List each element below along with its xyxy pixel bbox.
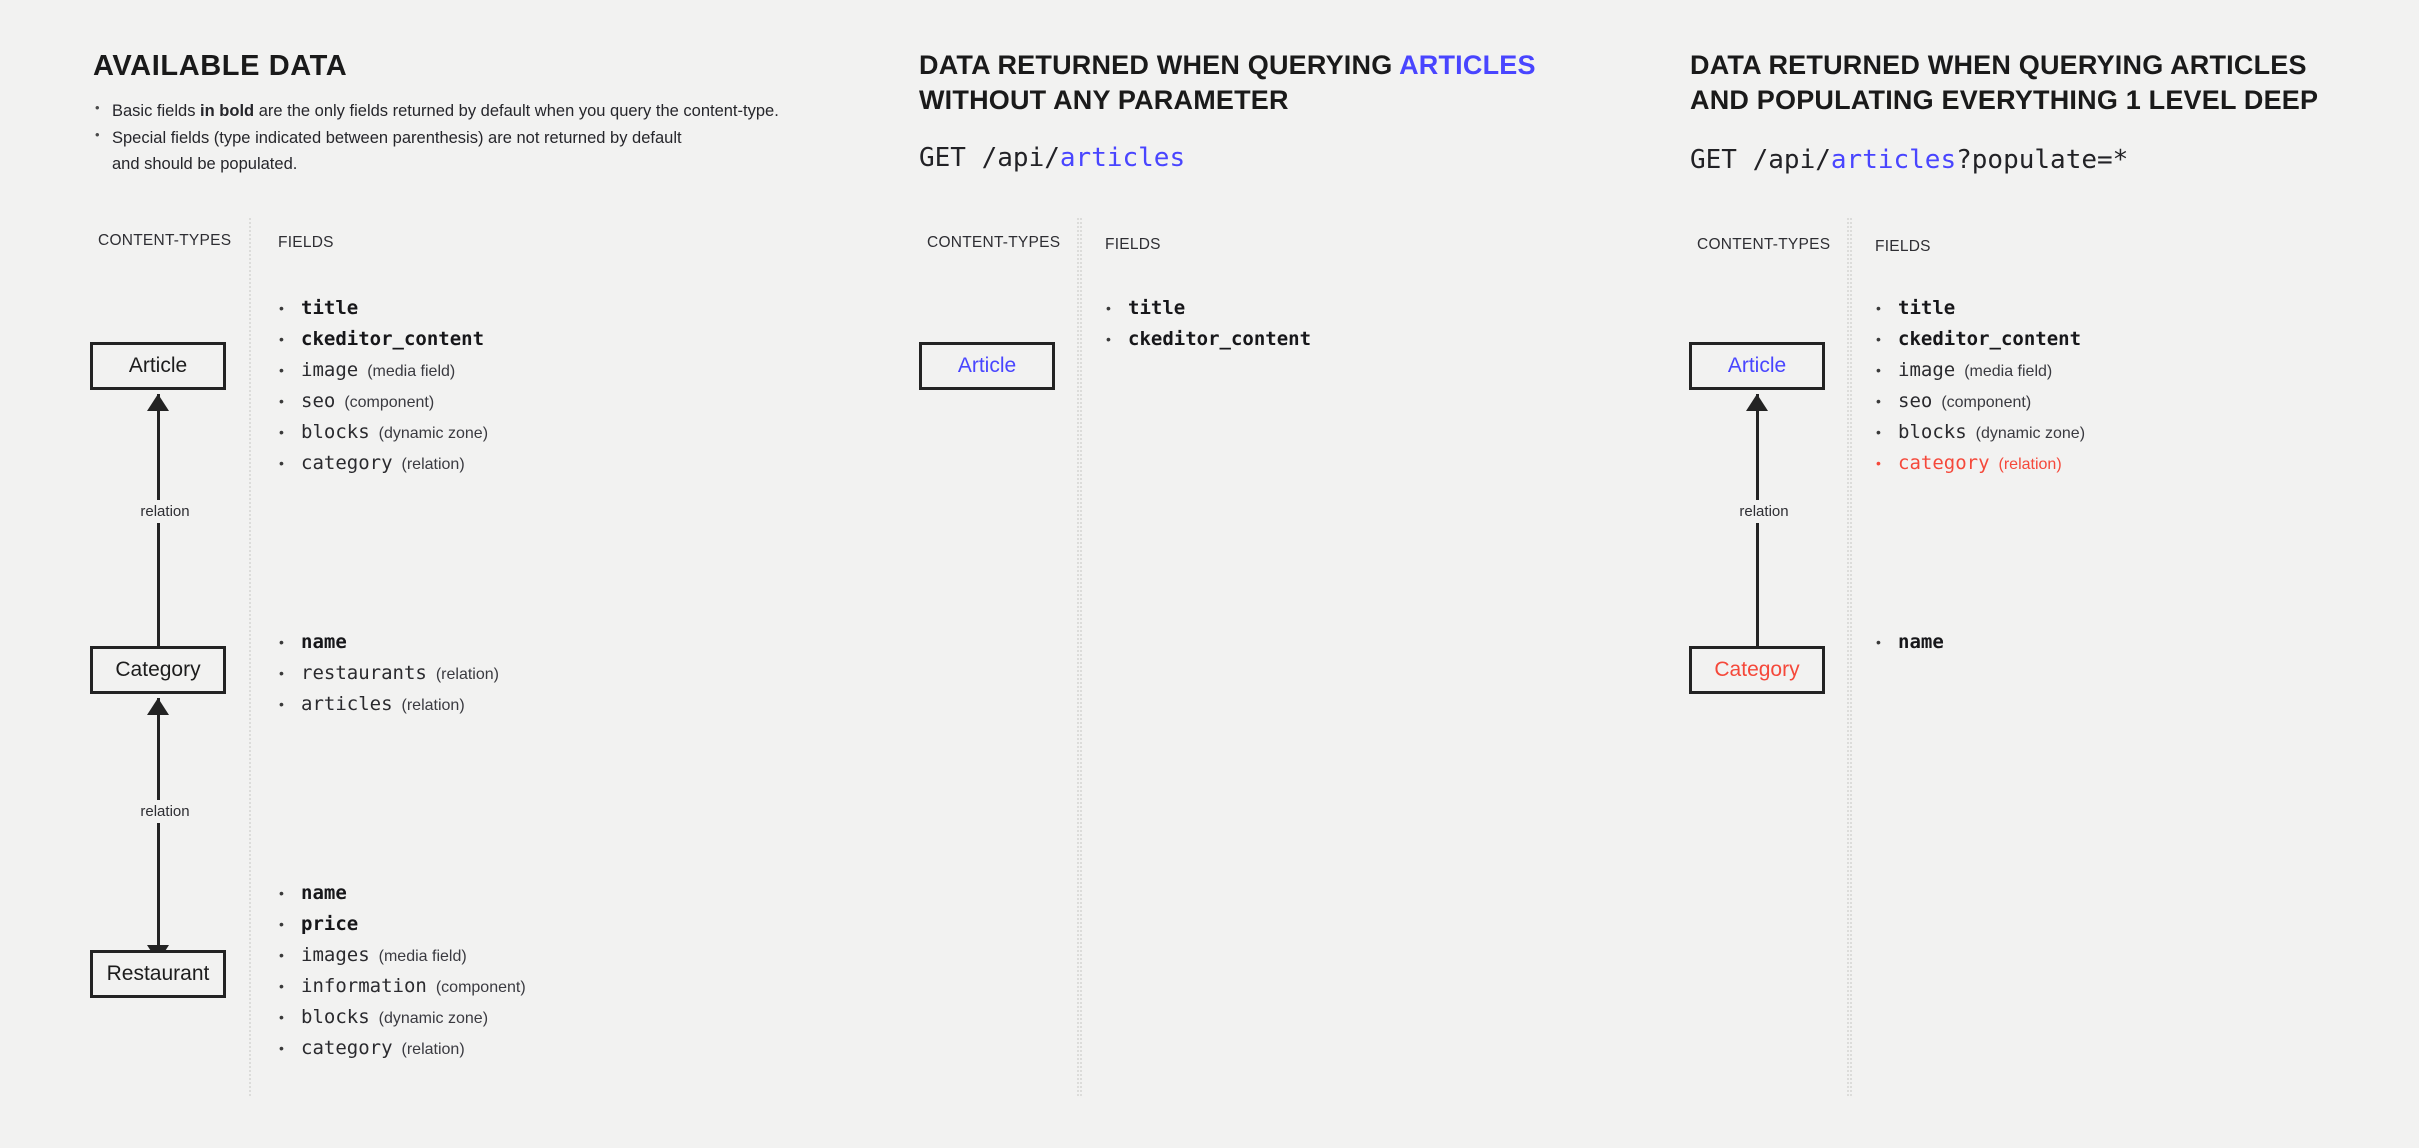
field-name: category xyxy=(1898,452,1990,474)
field-item: information(component) xyxy=(277,971,526,1002)
field-item: title xyxy=(1874,293,2085,324)
content-type-box-category[interactable]: Category xyxy=(90,646,226,694)
field-item: name xyxy=(1874,627,1944,658)
field-item: image(media field) xyxy=(1874,355,2085,386)
field-list-article: titleckeditor_contentimage(media field)s… xyxy=(1874,293,2085,479)
field-name: name xyxy=(301,631,347,653)
panel3-endpoint-resource: articles xyxy=(1831,145,1956,175)
field-item: seo(component) xyxy=(1874,386,2085,417)
field-item: blocks(dynamic zone) xyxy=(1874,417,2085,448)
intro-text-1a: Basic fields xyxy=(112,102,200,120)
field-type: (media field) xyxy=(379,948,467,965)
column-divider xyxy=(1077,218,1079,1096)
label-fields: FIELDS xyxy=(278,234,334,252)
field-item: category(relation) xyxy=(277,448,488,479)
field-type: (relation) xyxy=(402,1041,465,1058)
field-name: information xyxy=(301,975,427,997)
page-title: AVAILABLE DATA xyxy=(93,48,993,85)
relation-label-article-category: relation xyxy=(1717,500,1811,523)
field-item: seo(component) xyxy=(277,386,488,417)
field-type: (relation) xyxy=(436,666,499,683)
field-item: name xyxy=(277,878,526,909)
field-name: seo xyxy=(301,390,335,412)
field-item: category(relation) xyxy=(1874,448,2085,479)
label-content-types: CONTENT-TYPES xyxy=(927,234,1060,252)
panel3-title-part-b: AND POPULATING EVERYTHING 1 LEVEL DEEP xyxy=(1690,85,2318,115)
panel2-endpoint-resource: articles xyxy=(1060,143,1185,173)
field-item: ckeditor_content xyxy=(1104,324,1311,355)
field-type: (dynamic zone) xyxy=(379,425,488,442)
intro-text-1b: in bold xyxy=(200,102,254,120)
content-type-box-article[interactable]: Article xyxy=(90,342,226,390)
field-name: image xyxy=(1898,359,1955,381)
relation-arrowhead-up-category xyxy=(147,698,169,715)
field-type: (component) xyxy=(344,394,434,411)
field-list-restaurant: namepriceimages(media field)information(… xyxy=(277,878,526,1064)
relation-arrowhead-up-article xyxy=(147,394,169,411)
field-type: (component) xyxy=(1941,394,2031,411)
field-name: name xyxy=(301,882,347,904)
field-name: seo xyxy=(1898,390,1932,412)
field-type: (relation) xyxy=(1999,456,2062,473)
field-list-category: namerestaurants(relation)articles(relati… xyxy=(277,627,499,720)
field-name: ckeditor_content xyxy=(301,328,484,350)
field-item: restaurants(relation) xyxy=(277,658,499,689)
panel2-title-highlight: ARTICLES xyxy=(1399,50,1536,80)
field-name: title xyxy=(301,297,358,319)
field-item: blocks(dynamic zone) xyxy=(277,417,488,448)
field-item: title xyxy=(1104,293,1311,324)
field-item: blocks(dynamic zone) xyxy=(277,1002,526,1033)
field-name: ckeditor_content xyxy=(1128,328,1311,350)
panel-available-data: AVAILABLE DATA Basic fields in bold are … xyxy=(0,0,1080,1148)
panel3-title: DATA RETURNED WHEN QUERYING ARTICLESAND … xyxy=(1690,48,2419,117)
field-item: title xyxy=(277,293,488,324)
intro-bullets: Basic fields in bold are the only fields… xyxy=(93,98,853,178)
relation-line-article-category xyxy=(157,394,160,664)
field-list-category: name xyxy=(1874,627,1944,658)
content-type-box-category[interactable]: Category xyxy=(1689,646,1825,694)
field-type: (dynamic zone) xyxy=(379,1010,488,1027)
label-fields: FIELDS xyxy=(1875,238,1931,256)
field-item: category(relation) xyxy=(277,1033,526,1064)
intro-text-1c: are the only fields returned by default … xyxy=(254,102,779,120)
field-name: image xyxy=(301,359,358,381)
intro-bullet-1: Basic fields in bold are the only fields… xyxy=(93,98,853,125)
intro-bullet-2-cont: and should be populated. xyxy=(93,151,853,178)
field-type: (media field) xyxy=(1964,363,2052,380)
panel3-endpoint-suffix: ?populate=* xyxy=(1956,145,2128,175)
panel2-endpoint-prefix: GET /api/ xyxy=(919,143,1060,173)
label-content-types: CONTENT-TYPES xyxy=(1697,236,1830,254)
field-name: title xyxy=(1898,297,1955,319)
field-list-article: titleckeditor_content xyxy=(1104,293,1311,355)
field-name: restaurants xyxy=(301,662,427,684)
field-name: ckeditor_content xyxy=(1898,328,2081,350)
field-type: (relation) xyxy=(402,697,465,714)
column-divider xyxy=(1847,218,1849,1096)
panel2-title: DATA RETURNED WHEN QUERYING ARTICLESWITH… xyxy=(919,48,1679,117)
panel-query-populate-all: DATA RETURNED WHEN QUERYING ARTICLESAND … xyxy=(1850,0,2419,1148)
panel3-endpoint-prefix: GET /api/ xyxy=(1690,145,1831,175)
field-name: price xyxy=(301,913,358,935)
field-name: blocks xyxy=(1898,421,1967,443)
panel2-endpoint: GET /api/articles xyxy=(919,143,1185,173)
field-item: articles(relation) xyxy=(277,689,499,720)
intro-bullet-2: Special fields (type indicated between p… xyxy=(93,125,853,152)
panel2-title-part-a: DATA RETURNED WHEN QUERYING xyxy=(919,50,1399,80)
field-name: blocks xyxy=(301,1006,370,1028)
relation-label-category-restaurant: relation xyxy=(118,800,212,823)
field-type: (dynamic zone) xyxy=(1976,425,2085,442)
field-item: ckeditor_content xyxy=(277,324,488,355)
field-type: (component) xyxy=(436,979,526,996)
panel3-endpoint: GET /api/articles?populate=* xyxy=(1690,145,2128,175)
intro-text-3: and should be populated. xyxy=(112,155,297,173)
field-type: (media field) xyxy=(367,363,455,380)
column-divider xyxy=(249,218,251,1096)
relation-line-category-restaurant xyxy=(157,698,160,962)
field-name: category xyxy=(301,1037,393,1059)
panel2-title-part-b: WITHOUT ANY PARAMETER xyxy=(919,85,1289,115)
relation-arrowhead-up-article xyxy=(1746,394,1768,411)
label-fields: FIELDS xyxy=(1105,236,1161,254)
field-item: name xyxy=(277,627,499,658)
field-name: title xyxy=(1128,297,1185,319)
relation-line-article-category xyxy=(1756,394,1759,664)
field-item: images(media field) xyxy=(277,940,526,971)
field-name: blocks xyxy=(301,421,370,443)
field-list-article: titleckeditor_contentimage(media field)s… xyxy=(277,293,488,479)
label-content-types: CONTENT-TYPES xyxy=(98,232,231,250)
content-type-box-article[interactable]: Article xyxy=(919,342,1055,390)
intro-text-2: Special fields (type indicated between p… xyxy=(112,129,682,147)
field-item: image(media field) xyxy=(277,355,488,386)
field-item: ckeditor_content xyxy=(1874,324,2085,355)
field-item: price xyxy=(277,909,526,940)
field-type: (relation) xyxy=(402,456,465,473)
field-name: images xyxy=(301,944,370,966)
field-name: category xyxy=(301,452,393,474)
content-type-box-restaurant[interactable]: Restaurant xyxy=(90,950,226,998)
field-name: articles xyxy=(301,693,393,715)
relation-label-article-category: relation xyxy=(118,500,212,523)
content-type-box-article[interactable]: Article xyxy=(1689,342,1825,390)
field-name: name xyxy=(1898,631,1944,653)
panel3-title-part-a: DATA RETURNED WHEN QUERYING ARTICLES xyxy=(1690,50,2307,80)
